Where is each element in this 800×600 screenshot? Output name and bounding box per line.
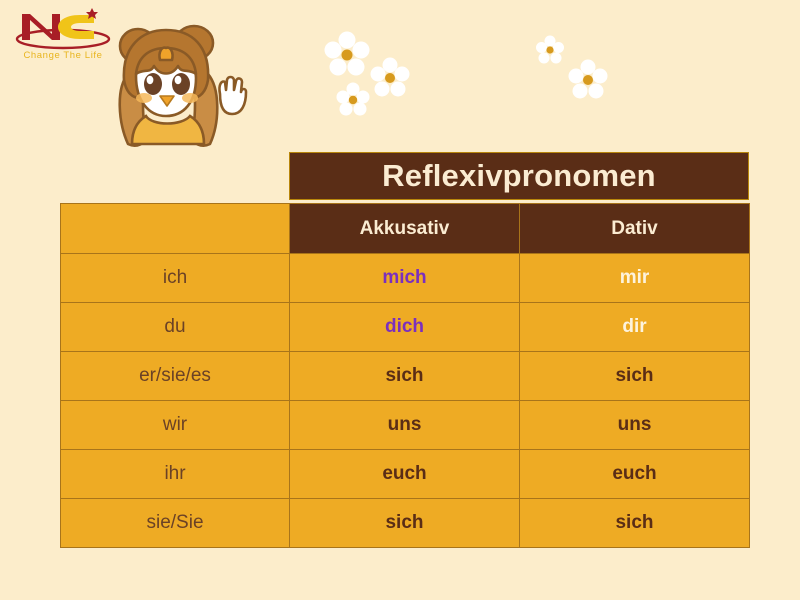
reflexive-pronoun-table: Reflexivpronomen Akkusativ Dativ ich mic… <box>60 152 749 552</box>
page-title: Reflexivpronomen <box>382 158 656 194</box>
table-row: sie/Sie sich sich <box>61 499 750 548</box>
pronoun-cell: ich <box>61 254 290 303</box>
brand-logo: Change The Life <box>8 6 118 68</box>
table-row: er/sie/es sich sich <box>61 352 750 401</box>
flower-icon <box>536 36 608 99</box>
flower-icon <box>325 32 410 116</box>
table-row: wir uns uns <box>61 401 750 450</box>
akkusativ-cell: sich <box>290 352 520 401</box>
table-row: ihr euch euch <box>61 450 750 499</box>
dativ-cell: uns <box>520 401 750 450</box>
flower-decoration-left <box>322 20 442 130</box>
table-corner-cell <box>61 204 290 254</box>
table-row: du dich dir <box>61 303 750 352</box>
pronoun-cell: er/sie/es <box>61 352 290 401</box>
dativ-cell: mir <box>520 254 750 303</box>
table-title-bar: Reflexivpronomen <box>289 152 749 200</box>
logo-mark-icon <box>8 6 118 50</box>
waving-girl-mascot <box>108 18 250 148</box>
dativ-cell: sich <box>520 352 750 401</box>
column-header-akkusativ: Akkusativ <box>290 204 520 254</box>
akkusativ-cell: dich <box>290 303 520 352</box>
flower-decoration-right <box>528 28 618 108</box>
pronoun-cell: ihr <box>61 450 290 499</box>
logo-tagline: Change The Life <box>10 50 116 61</box>
akkusativ-cell: uns <box>290 401 520 450</box>
pronoun-cell: wir <box>61 401 290 450</box>
dativ-cell: euch <box>520 450 750 499</box>
pronoun-cell: du <box>61 303 290 352</box>
akkusativ-cell: sich <box>290 499 520 548</box>
column-header-dativ: Dativ <box>520 204 750 254</box>
table-header-row: Akkusativ Dativ <box>61 204 750 254</box>
table-row: ich mich mir <box>61 254 750 303</box>
pronoun-grid: Akkusativ Dativ ich mich mir du dich dir… <box>60 203 750 548</box>
akkusativ-cell: mich <box>290 254 520 303</box>
dativ-cell: sich <box>520 499 750 548</box>
pronoun-cell: sie/Sie <box>61 499 290 548</box>
dativ-cell: dir <box>520 303 750 352</box>
akkusativ-cell: euch <box>290 450 520 499</box>
